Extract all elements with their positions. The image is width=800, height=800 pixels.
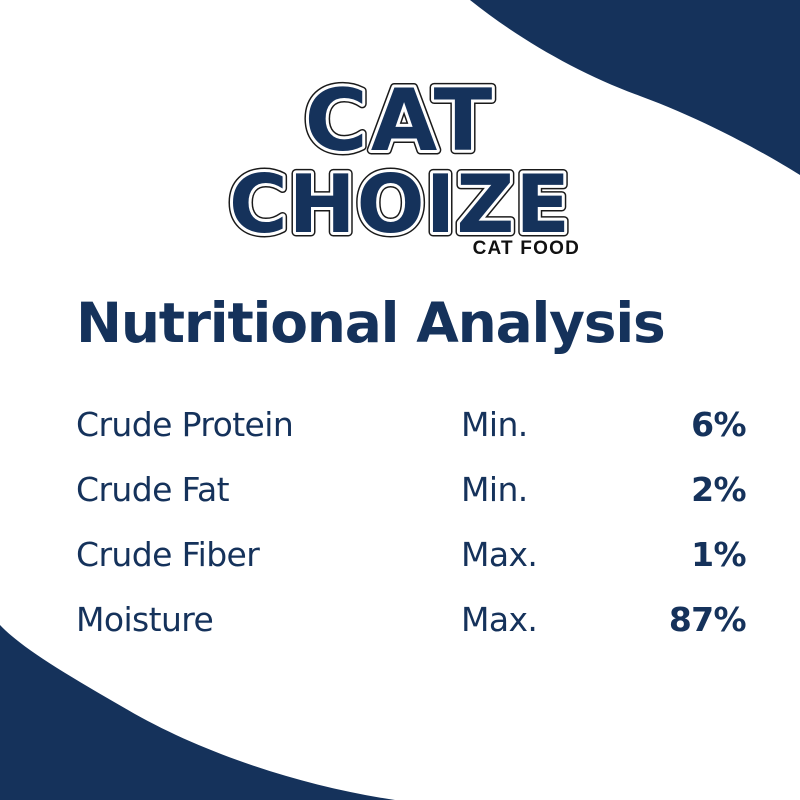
table-row: Crude Fiber Max. 1% — [76, 522, 746, 587]
nutrient-limit: Max. — [461, 587, 636, 652]
nutrient-value: 87% — [636, 587, 746, 652]
page-title: Nutritional Analysis — [76, 296, 665, 351]
table-row: Moisture Max. 87% — [76, 587, 746, 652]
nutrient-limit: Min. — [461, 457, 636, 522]
nutrient-value: 2% — [636, 457, 746, 522]
brand-logo: .wm { font-family: "DejaVu Sans", sans-s… — [0, 62, 800, 267]
logo-line-1-fill: CAT — [305, 71, 496, 171]
logo-subtitle: CAT FOOD — [473, 238, 580, 260]
logo-line-1: CAT CAT CAT — [305, 71, 496, 171]
nutrient-name: Moisture — [76, 587, 461, 652]
nutrient-value: 6% — [636, 392, 746, 457]
nutrient-name: Crude Fiber — [76, 522, 461, 587]
table-row: Crude Fat Min. 2% — [76, 457, 746, 522]
table-row: Crude Protein Min. 6% — [76, 392, 746, 457]
cat-choize-wordmark-icon: .wm { font-family: "DejaVu Sans", sans-s… — [210, 62, 590, 262]
brand-logo-art: .wm { font-family: "DejaVu Sans", sans-s… — [210, 62, 590, 267]
nutritional-analysis-table: Crude Protein Min. 6% Crude Fat Min. 2% … — [76, 392, 746, 652]
nutrient-value: 1% — [636, 522, 746, 587]
nutrient-limit: Max. — [461, 522, 636, 587]
nutrient-name: Crude Protein — [76, 392, 461, 457]
nutrient-name: Crude Fat — [76, 457, 461, 522]
nutritional-analysis-label: .wm { font-family: "DejaVu Sans", sans-s… — [0, 0, 800, 800]
nutrient-limit: Min. — [461, 392, 636, 457]
